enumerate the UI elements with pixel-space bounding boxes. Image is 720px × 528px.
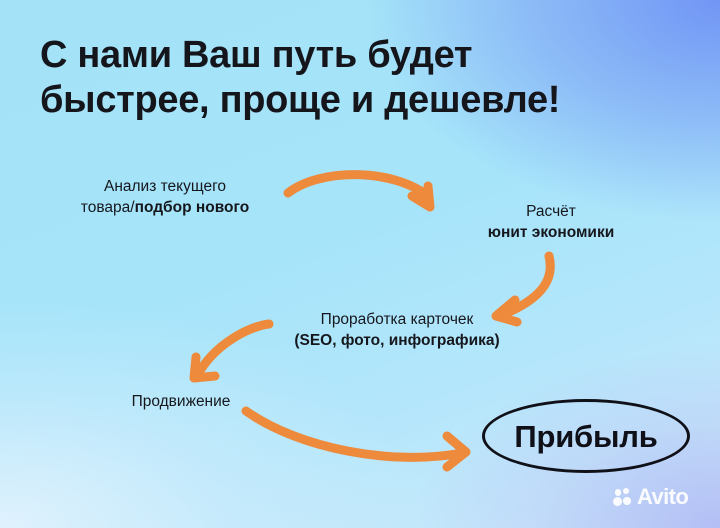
arrow-cards-to-promotion <box>194 324 269 378</box>
page-title: С нами Ваш путь будет быстрее, проще и д… <box>40 33 680 123</box>
flow-node-cards: Проработка карточек (SEO, фото, инфограф… <box>282 309 512 351</box>
flow-node-analysis-line2-bold: подбор нового <box>135 199 250 216</box>
flow-node-cards-line1: Проработка карточек <box>282 309 512 330</box>
flow-node-analysis-line2-regular: товара/ <box>81 199 135 216</box>
arrow-analysis-to-unit <box>288 175 430 207</box>
flow-node-profit-label: Прибыль <box>514 421 657 452</box>
flow-node-unit-economics-line1: Расчёт <box>456 201 646 222</box>
flow-node-analysis: Анализ текущего товара/подбор нового <box>55 176 275 218</box>
avito-watermark: Avito <box>613 486 688 508</box>
flow-node-unit-economics: Расчёт юнит экономики <box>456 201 646 243</box>
flow-node-promotion-line1: Продвижение <box>96 391 266 412</box>
flow-node-cards-line2: (SEO, фото, инфографика) <box>282 330 512 351</box>
flow-node-analysis-line2: товара/подбор нового <box>55 197 275 218</box>
avito-watermark-text: Avito <box>637 486 688 508</box>
arrow-promotion-to-profit <box>246 411 466 467</box>
flow-node-analysis-line1: Анализ текущего <box>55 176 275 197</box>
flow-node-profit: Прибыль <box>482 399 690 473</box>
promo-banner: С нами Ваш путь будет быстрее, проще и д… <box>0 0 720 528</box>
flow-node-promotion: Продвижение <box>96 391 266 412</box>
flow-node-unit-economics-line2: юнит экономики <box>456 222 646 243</box>
avito-logo-icon <box>613 488 632 507</box>
